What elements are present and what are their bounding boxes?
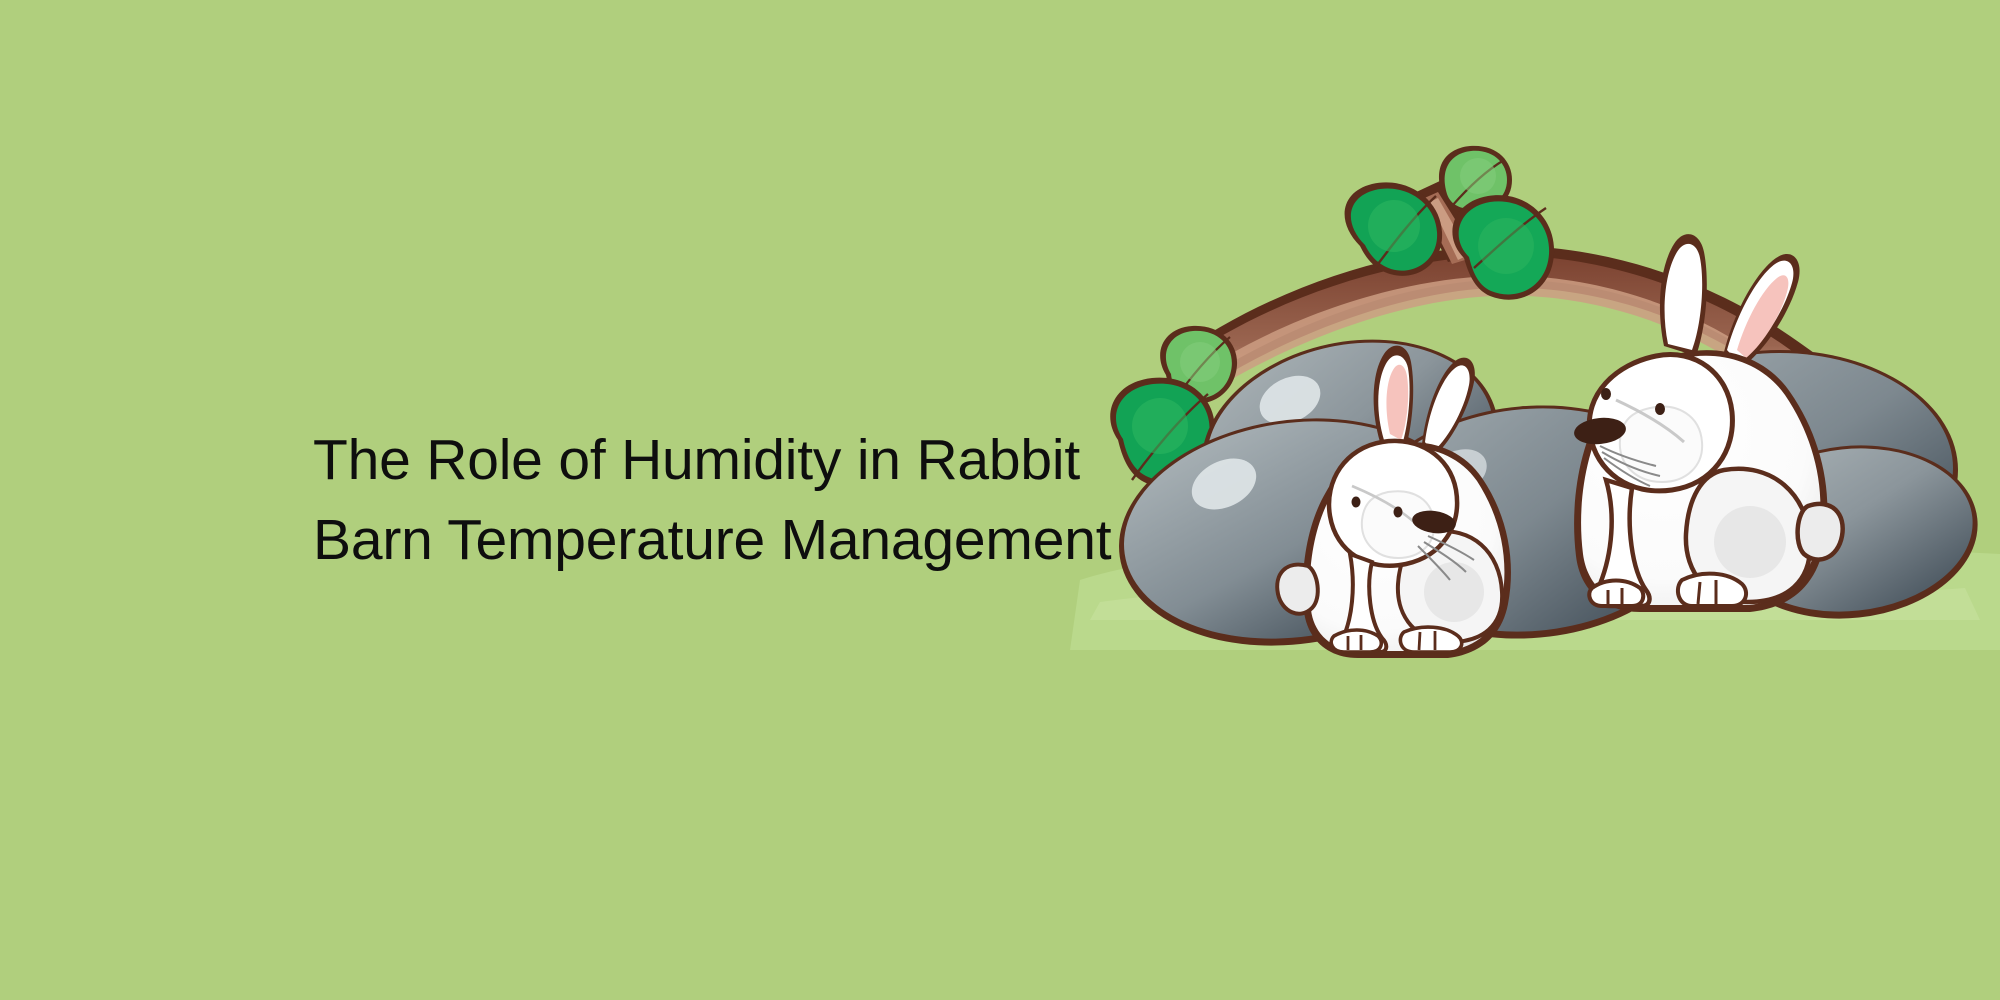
rabbit-small-haunch-shade bbox=[1424, 562, 1484, 622]
rabbit-large-eye-2 bbox=[1655, 403, 1665, 415]
rabbit-large-eye bbox=[1601, 388, 1611, 400]
page-title-line-2: Barn Temperature Management bbox=[313, 500, 1133, 580]
page-title: The Role of Humidity in Rabbit Barn Temp… bbox=[313, 420, 1133, 580]
rabbits-under-branch-illustration bbox=[1060, 150, 2000, 680]
rabbit-small-eye bbox=[1352, 497, 1361, 508]
rabbit-small-back-paw bbox=[1400, 627, 1461, 652]
rabbit-large-tail bbox=[1798, 504, 1843, 560]
banner-root: The Role of Humidity in Rabbit Barn Temp… bbox=[0, 0, 2000, 1000]
page-title-line-1: The Role of Humidity in Rabbit bbox=[313, 420, 1133, 500]
rabbit-large-back-paw bbox=[1678, 574, 1746, 606]
rabbit-large-cheek bbox=[1620, 407, 1702, 482]
rabbit-small-tail bbox=[1277, 565, 1318, 614]
rabbit-large-paw-front bbox=[1589, 581, 1643, 607]
rabbit-small-eye-2 bbox=[1394, 507, 1403, 518]
rabbit-small-paw-front bbox=[1331, 630, 1381, 652]
rabbit-large-haunch-shade bbox=[1714, 506, 1786, 578]
